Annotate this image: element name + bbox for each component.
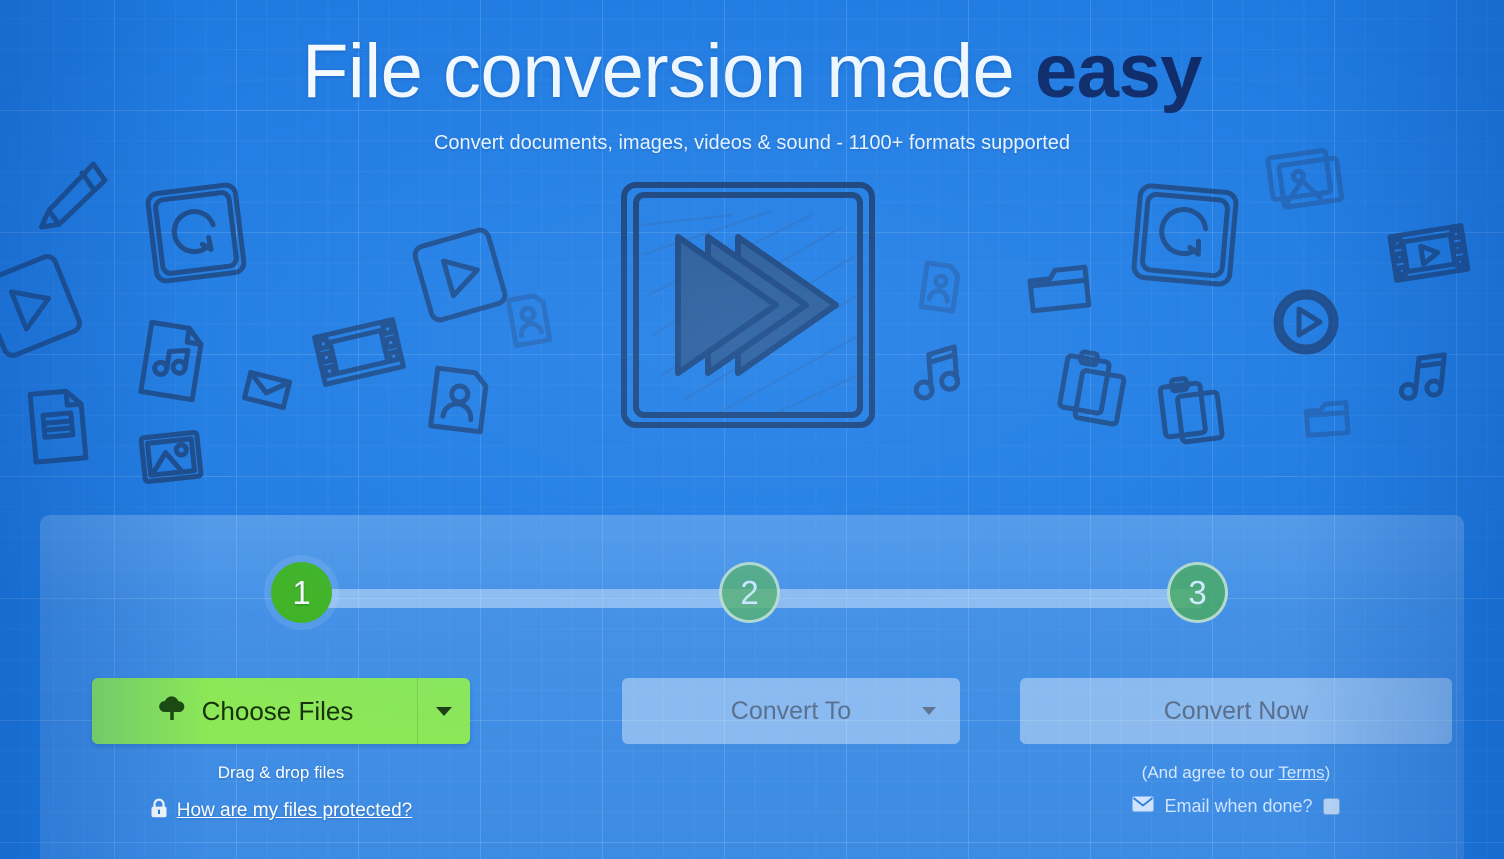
music-note-right-icon (1397, 348, 1452, 407)
terms-notice: (And agree to our Terms) (1020, 763, 1452, 783)
contact-card-right-icon (917, 259, 964, 314)
sync-square-icon (143, 180, 250, 287)
choose-files-dropdown-button[interactable] (418, 678, 470, 744)
action-row: Choose Files Convert To Convert Now (40, 678, 1464, 744)
email-when-done-label: Email when done? (1164, 796, 1312, 817)
padlock-icon (150, 798, 168, 823)
step-1-circle[interactable]: 1 (271, 562, 332, 623)
sync-square-right-icon (1129, 181, 1241, 290)
convert-to-dropdown[interactable]: Convert To (622, 678, 960, 744)
image-file-icon (138, 429, 205, 485)
clipboard-copy-icon (1054, 347, 1132, 429)
mov-file-icon (25, 385, 93, 466)
cloud-upload-icon (156, 695, 188, 728)
fast-forward-sketch-art (612, 175, 884, 435)
chevron-down-icon (922, 707, 936, 715)
film-strip-icon (310, 311, 408, 393)
choose-files-label: Choose Files (202, 696, 354, 727)
step-3-circle[interactable]: 3 (1167, 562, 1228, 623)
headline-accent: easy (1035, 29, 1202, 114)
email-when-done-checkbox[interactable] (1323, 798, 1340, 815)
mp3-file-icon (134, 317, 209, 404)
terms-suffix: ) (1325, 763, 1331, 782)
play-square-icon (0, 249, 87, 364)
contact-file-icon (426, 365, 491, 436)
terms-link[interactable]: Terms (1278, 763, 1324, 782)
step-2-circle[interactable]: 2 (719, 562, 780, 623)
step-indicator: 1 2 3 (40, 562, 1464, 632)
converter-panel: 1 2 3 Choose Files (40, 515, 1464, 859)
envelope-icon (1132, 796, 1154, 817)
play-circle-icon (1272, 288, 1340, 356)
page-subtitle: Convert documents, images, videos & soun… (0, 128, 1504, 158)
landing-page: File conversion made easy Convert docume… (0, 0, 1504, 859)
pencil-icon (37, 152, 113, 245)
folder-right-icon (1303, 398, 1352, 439)
email-when-done-row: Email when done? (1020, 796, 1452, 817)
terms-prefix: (And agree to our (1142, 763, 1279, 782)
convert-to-label: Convert To (731, 697, 851, 726)
play-square-small-icon (408, 223, 512, 327)
film-strip-right-icon (1386, 219, 1472, 288)
drag-drop-hint: Drag & drop files (92, 763, 470, 783)
headline-main: File conversion made (302, 29, 1035, 114)
music-note-icon (910, 342, 966, 401)
envelope-doodle-icon (241, 369, 293, 411)
file-protection-link[interactable]: How are my files protected? (177, 800, 413, 822)
choose-files-button[interactable]: Choose Files (92, 678, 418, 744)
convert-now-label: Convert Now (1164, 697, 1309, 726)
convert-now-button[interactable]: Convert Now (1020, 678, 1452, 744)
hero-section: File conversion made easy Convert docume… (0, 0, 1504, 515)
clipboard-copy-two-icon (1156, 372, 1226, 449)
choose-files-group: Choose Files (92, 678, 470, 744)
chevron-down-icon (436, 707, 452, 716)
folder-icon (1026, 263, 1092, 315)
page-title: File conversion made easy (0, 24, 1504, 120)
file-protection-row: How are my files protected? (92, 798, 470, 823)
contact-card-icon (504, 291, 554, 350)
